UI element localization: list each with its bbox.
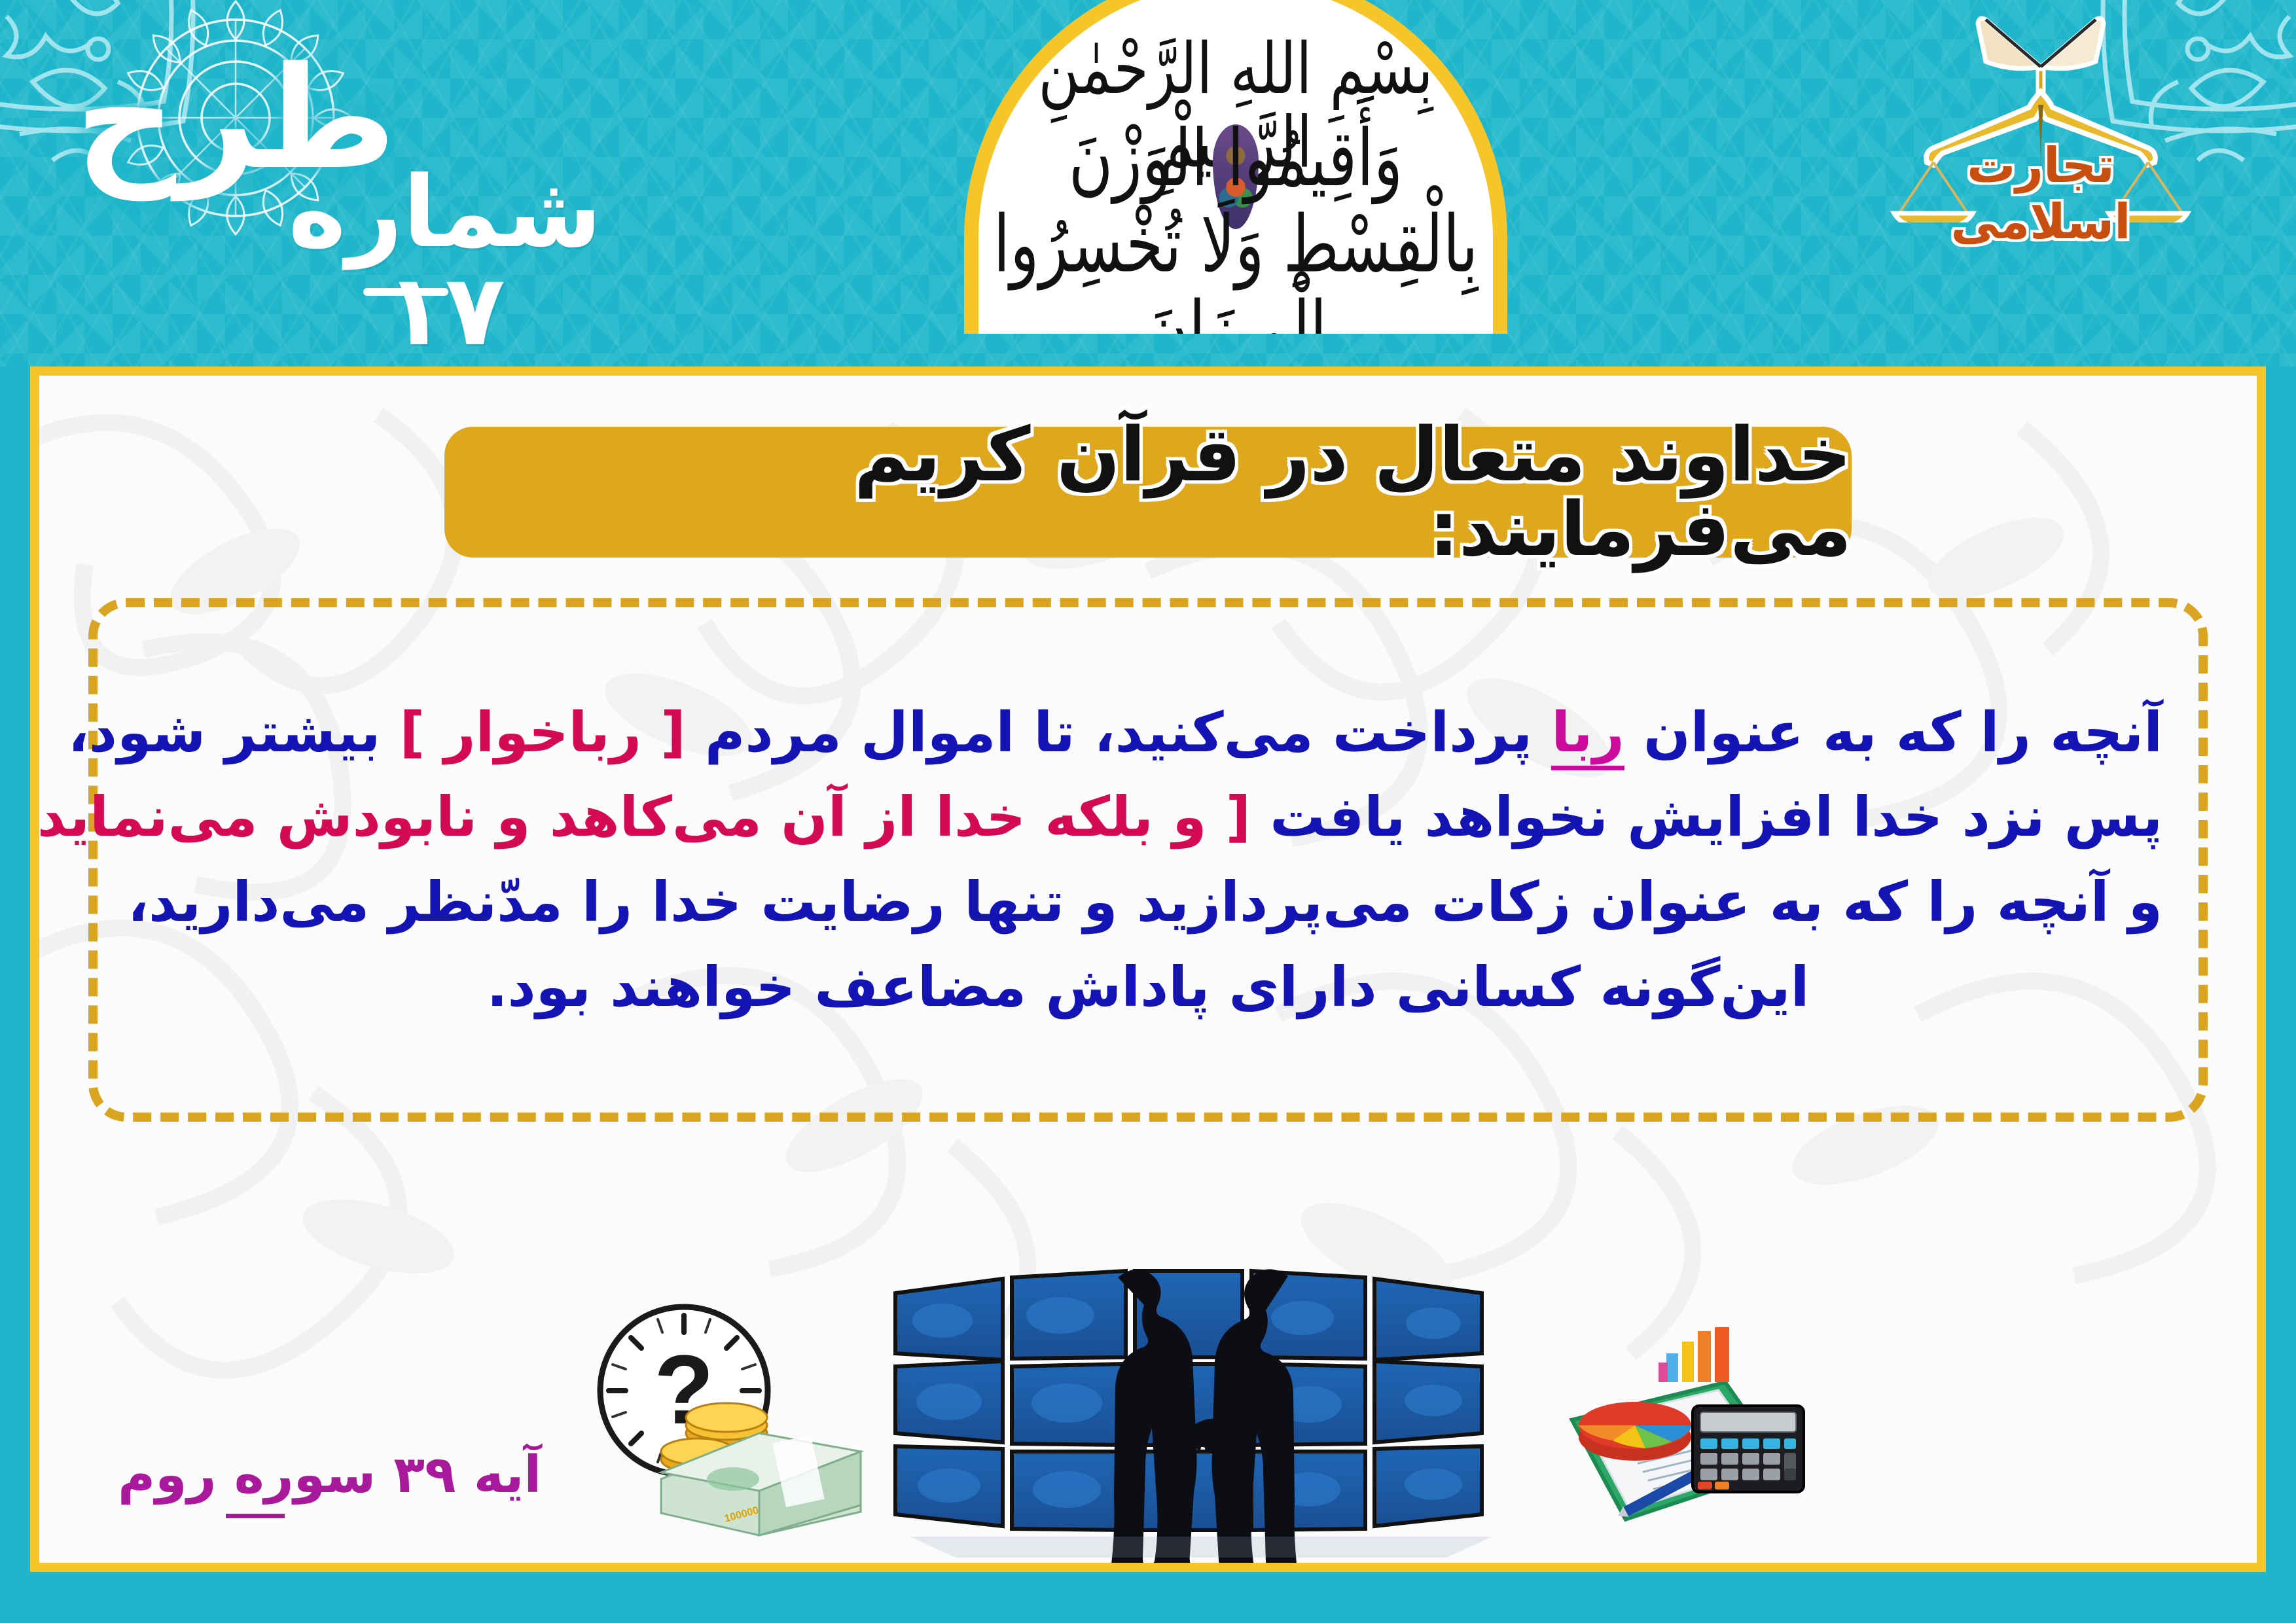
verse-line: و آنچه را که به عنوان زکات می‌پردازید و … [134,867,2162,938]
verse-segment: آنچه را که به عنوان [1624,700,2162,764]
arch-verse-text: وَأَقِيمُوا الْوَزْنَ بِالْقِسْطِ وَلَا … [978,115,1493,334]
verse-line: آنچه را که به عنوان ربا پرداخت می‌کنید، … [134,698,2162,768]
issue-number-label: شماره ۱۷ [216,164,674,360]
verse-quote-box: آنچه را که به عنوان ربا پرداخت می‌کنید، … [88,598,2208,1122]
quran-quote-title-text: خداوند متعال در قرآن کریم می‌فرمایند: [444,418,1852,567]
verse-segment: ربا [1551,700,1624,770]
finance-report-icon [1538,1327,1813,1543]
bottom-teal-strip [0,1572,2296,1623]
quran-quote-title: خداوند متعال در قرآن کریم می‌فرمایند: [444,427,1852,558]
verse-source-label: آیه ۳۹ سوره روم [118,1450,541,1501]
bismillah-arch: بِسْمِ اللهِ الرَّحْمٰنِ الرَّحِيمِ وَأَ… [964,0,1507,334]
verse-source-underline [226,1514,285,1518]
verse-segment: [ و بلکه خدا از آن می‌کاهد و نابودش می‌ن… [30,785,1251,849]
verse-line: پس نزد خدا افزایش نخواهد یافت [ و بلکه خ… [134,782,2162,853]
content-card: خداوند متعال در قرآن کریم می‌فرمایند: آن… [30,366,2266,1572]
verse-segment: بیشتر شود، [68,700,400,764]
verse-segment: پرداخت می‌کنید، تا اموال مردم [686,700,1552,764]
brand-label: تجارت اسلامی [1923,137,2159,250]
clock-money-icon: ? 100000 [563,1283,877,1558]
handshake-screens-icon [884,1255,1525,1563]
verse-segment: این‌گونه کسانی دارای پاداش مضاعف خواهند … [487,955,1810,1019]
verse-segment: و آنچه را که به عنوان زکات می‌پردازید و … [128,870,2162,934]
verse-line: این‌گونه کسانی دارای پاداش مضاعف خواهند … [134,952,2162,1023]
issue-underline [363,288,448,296]
poster-canvas: طرح شماره ۱۷ بِسْمِ اللهِ الرَّحْمٰنِ ال… [0,0,2296,1623]
verse-segment: پس نزد خدا افزایش نخواهد یافت [1251,785,2162,849]
verse-segment: [ رباخوار ] [400,700,686,764]
islamic-trade-logo: تجارت اسلامی [1871,7,2211,223]
